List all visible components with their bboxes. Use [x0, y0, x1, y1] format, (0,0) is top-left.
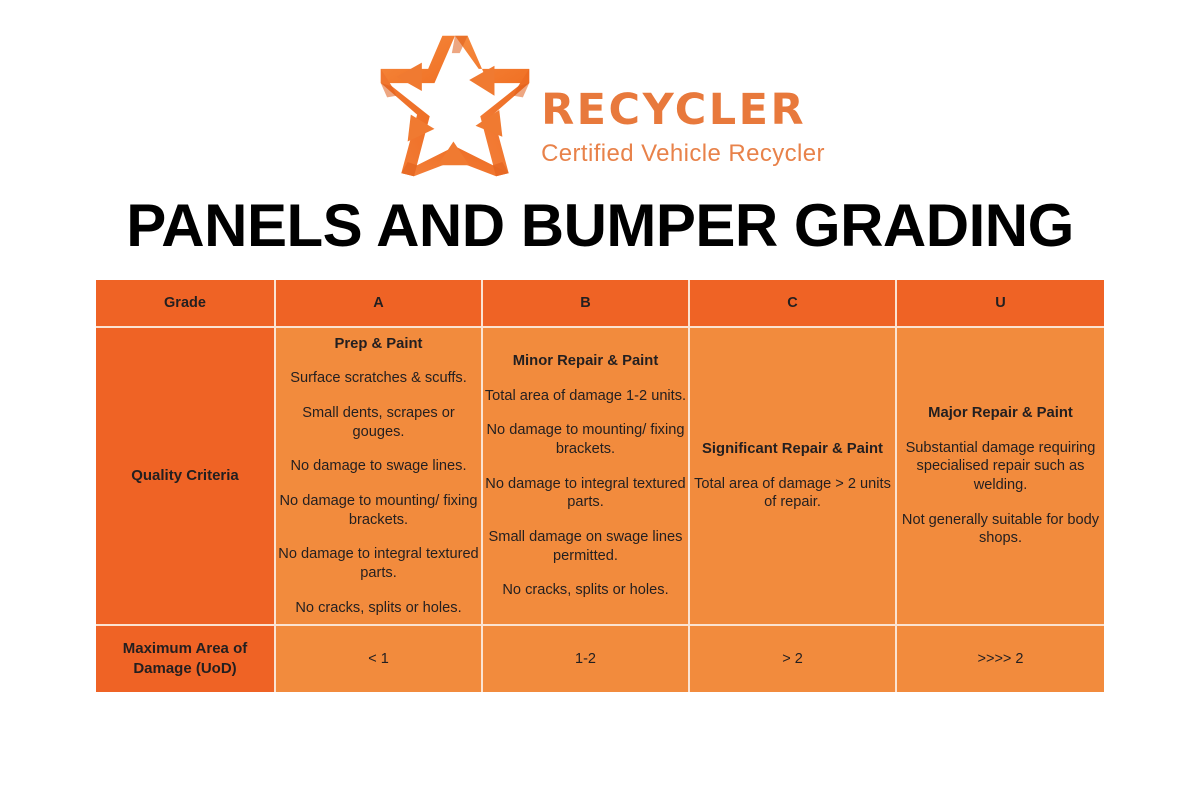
cell-line: No cracks, splits or holes.	[483, 581, 688, 600]
cell-line: Substantial damage requiring specialised…	[897, 439, 1104, 495]
table-header-row: Grade A B C U	[96, 280, 1104, 328]
cell-heading: Significant Repair & Paint	[690, 440, 895, 459]
header-grade-b: B	[483, 280, 690, 328]
cell-max-damage-b: 1-2	[483, 626, 690, 692]
row-label-maximum-area-of-damage: Maximum Area of Damage (UoD)	[96, 626, 276, 692]
logo-name: RECYCLER	[541, 89, 825, 132]
cell-line: No damage to swage lines.	[276, 457, 481, 476]
recycling-star-logo-icon	[375, 31, 535, 181]
grading-table: Grade A B C U Quality Criteria Prep & Pa…	[96, 280, 1104, 692]
table-row-maximum-area-of-damage: Maximum Area of Damage (UoD) < 1 1-2 > 2…	[96, 626, 1104, 692]
header-grade-u: U	[897, 280, 1104, 328]
row-label-quality-criteria: Quality Criteria	[96, 328, 276, 626]
cell-line: Total area of damage > 2 units of repair…	[690, 475, 895, 512]
cell-heading: Minor Repair & Paint	[483, 352, 688, 371]
cell-line: Total area of damage 1-2 units.	[483, 387, 688, 406]
cell-quality-criteria-u: Major Repair & Paint Substantial damage …	[897, 328, 1104, 626]
cell-line: No damage to mounting/ fixing brackets.	[276, 492, 481, 529]
cell-line: Small dents, scrapes or gouges.	[276, 404, 481, 441]
logo-tagline: Certified Vehicle Recycler	[541, 142, 825, 166]
cell-quality-criteria-a: Prep & Paint Surface scratches & scuffs.…	[276, 328, 483, 626]
logo-wordmark-group: RECYCLER Certified Vehicle Recycler	[541, 45, 825, 166]
cell-line: No damage to integral textured parts.	[276, 545, 481, 582]
poster-root: RECYCLER Certified Vehicle Recycler PANE…	[0, 0, 1200, 800]
brand-logo: RECYCLER Certified Vehicle Recycler	[0, 28, 1200, 183]
cell-heading: Prep & Paint	[276, 335, 481, 354]
cell-max-damage-u: >>>> 2	[897, 626, 1104, 692]
header-grade-a: A	[276, 280, 483, 328]
cell-line: No damage to integral textured parts.	[483, 475, 688, 512]
cell-line: Surface scratches & scuffs.	[276, 369, 481, 388]
cell-line: Not generally suitable for body shops.	[897, 511, 1104, 548]
cell-quality-criteria-b: Minor Repair & Paint Total area of damag…	[483, 328, 690, 626]
page-title: PANELS AND BUMPER GRADING	[0, 193, 1200, 259]
cell-line: No cracks, splits or holes.	[276, 599, 481, 618]
table-row-quality-criteria: Quality Criteria Prep & Paint Surface sc…	[96, 328, 1104, 626]
cell-max-damage-a: < 1	[276, 626, 483, 692]
header-grade-c: C	[690, 280, 897, 328]
header-grade-label: Grade	[96, 280, 276, 328]
cell-max-damage-c: > 2	[690, 626, 897, 692]
cell-line: No damage to mounting/ fixing brackets.	[483, 421, 688, 458]
cell-line: Small damage on swage lines permitted.	[483, 528, 688, 565]
cell-quality-criteria-c: Significant Repair & Paint Total area of…	[690, 328, 897, 626]
cell-heading: Major Repair & Paint	[897, 404, 1104, 423]
